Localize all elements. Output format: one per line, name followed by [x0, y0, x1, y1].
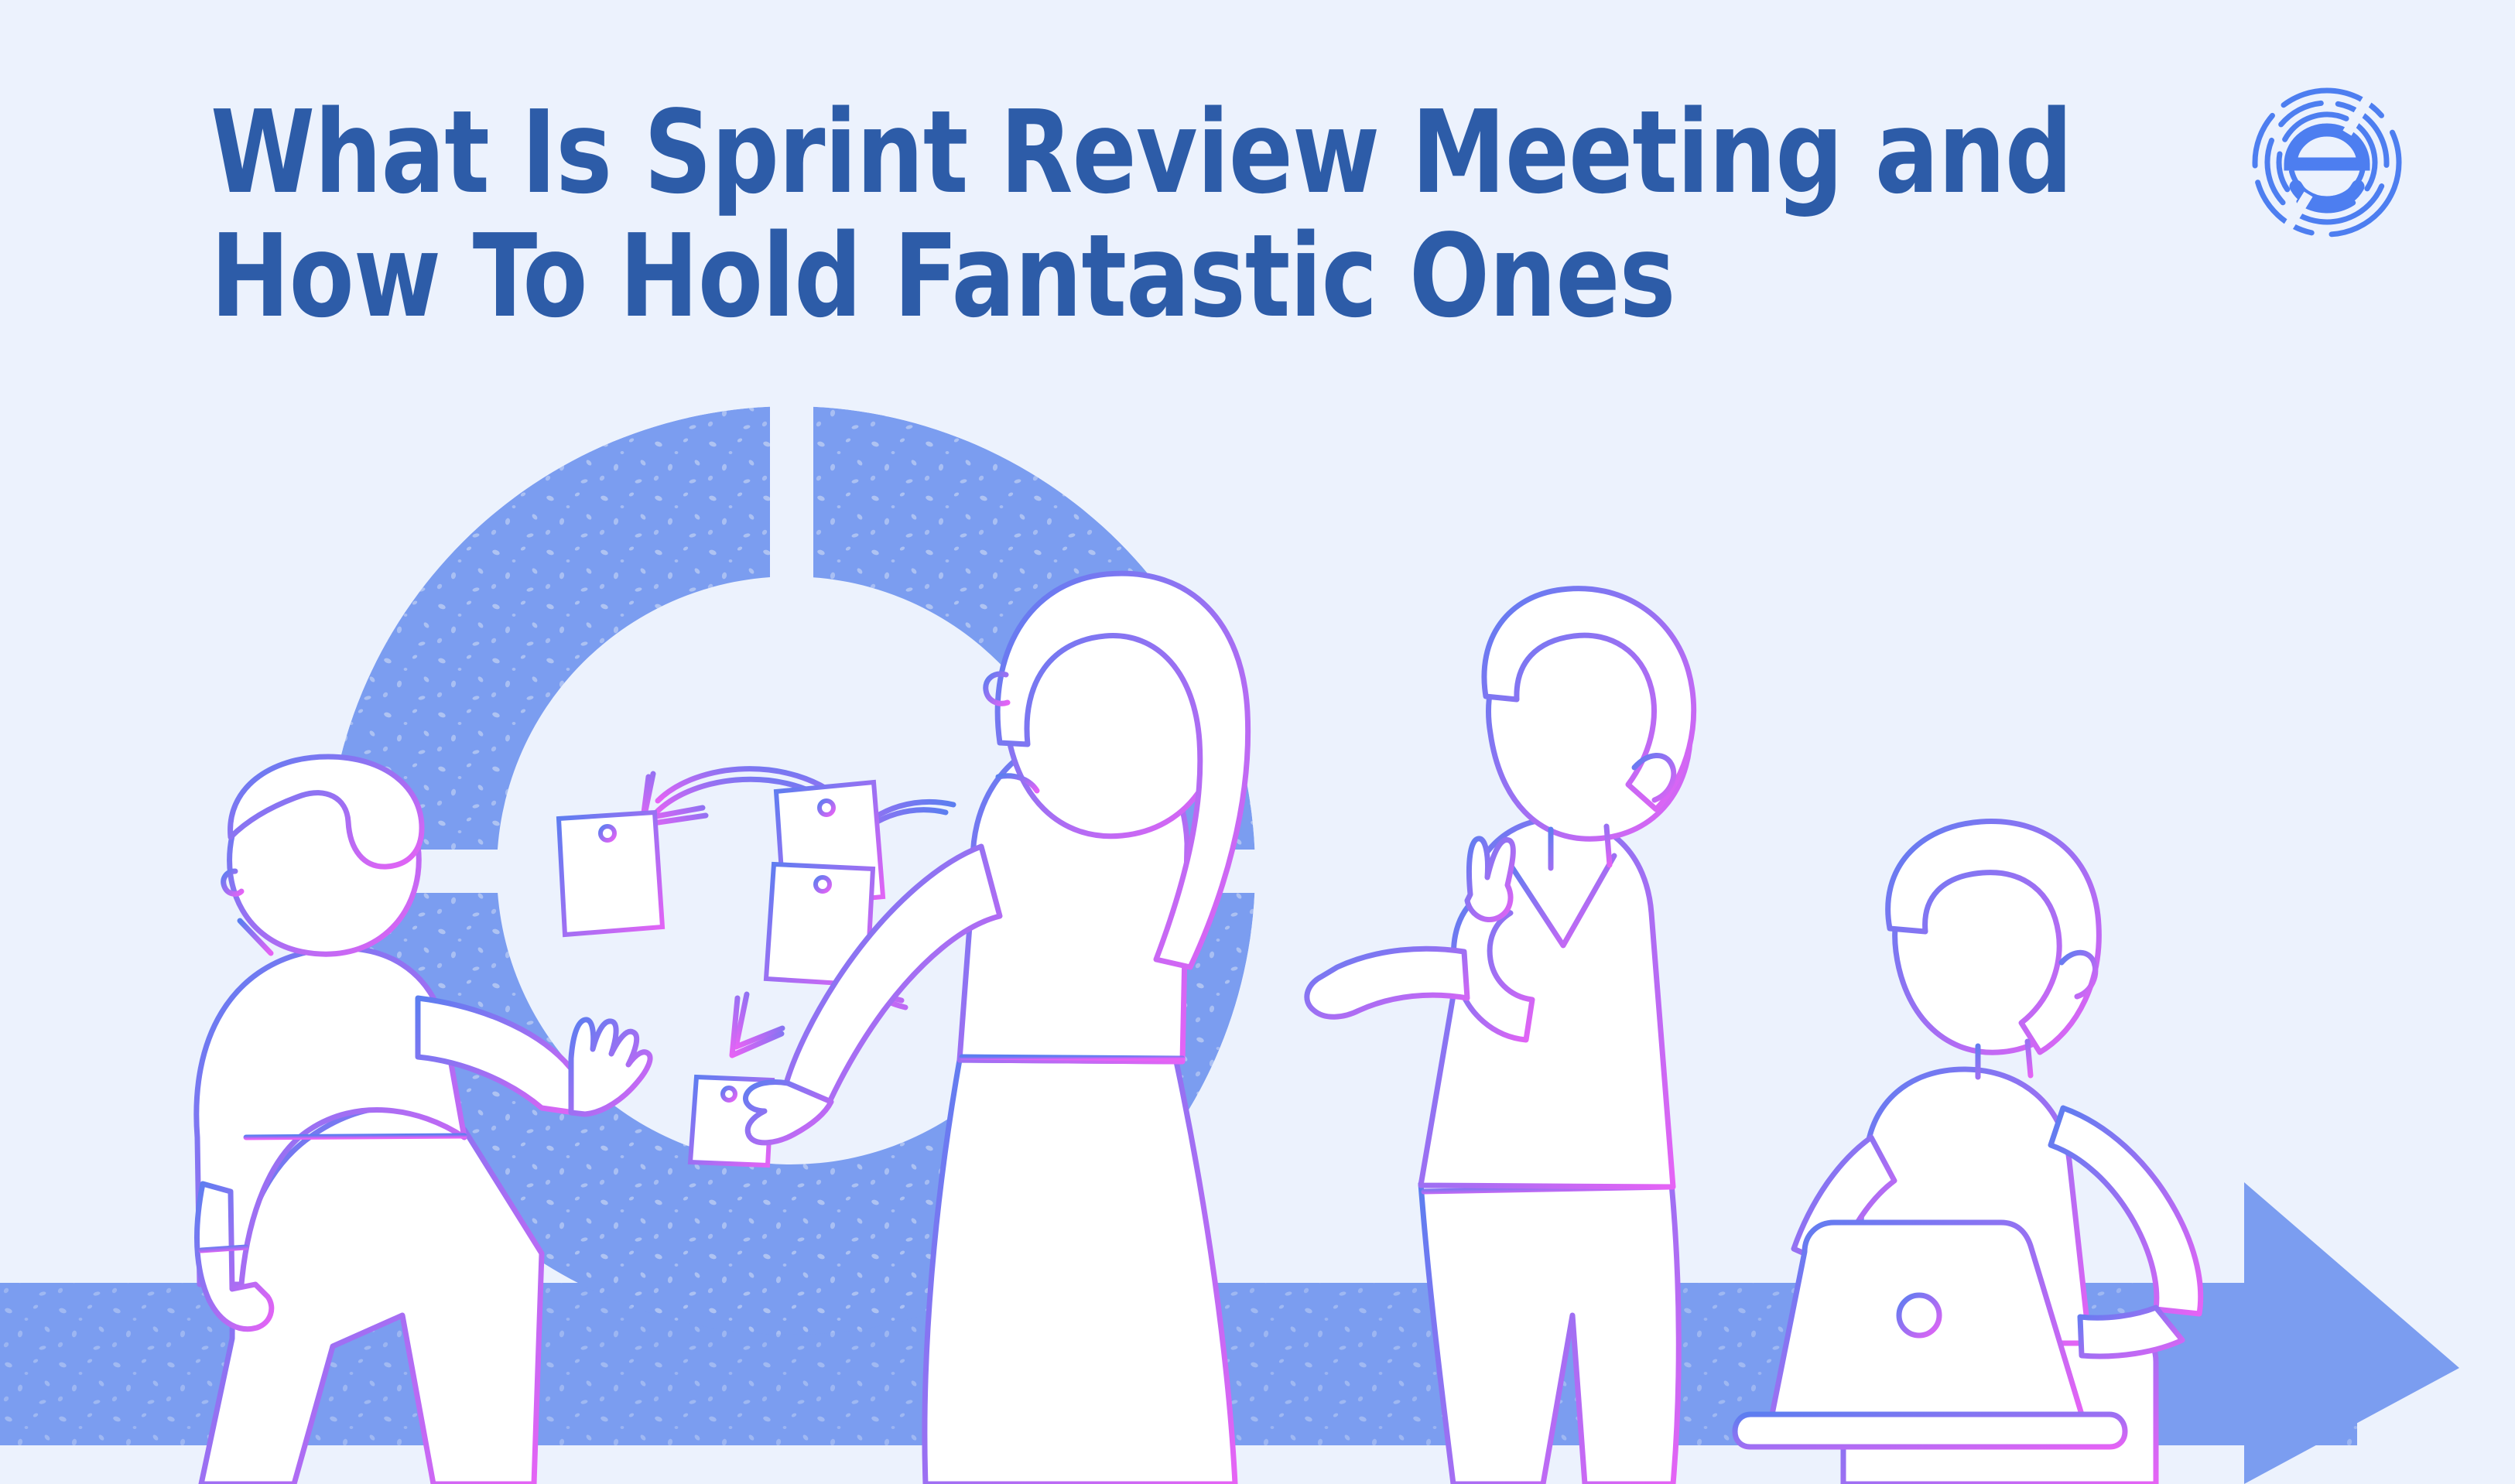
page-title-line-1: What Is Sprint Review Meeting and — [210, 91, 1990, 215]
page-title-line-2: How To Hold Fantastic Ones — [210, 215, 1990, 339]
person-with-laptop — [1735, 822, 2201, 1484]
sticky-note — [559, 812, 662, 935]
e-logo-icon — [2248, 84, 2407, 242]
page-title: What Is Sprint Review Meeting and How To… — [210, 91, 1990, 339]
brand-logo[interactable] — [2248, 84, 2407, 242]
poster-canvas: What Is Sprint Review Meeting and How To… — [0, 0, 2515, 1484]
logo-letter-e — [2291, 130, 2363, 204]
